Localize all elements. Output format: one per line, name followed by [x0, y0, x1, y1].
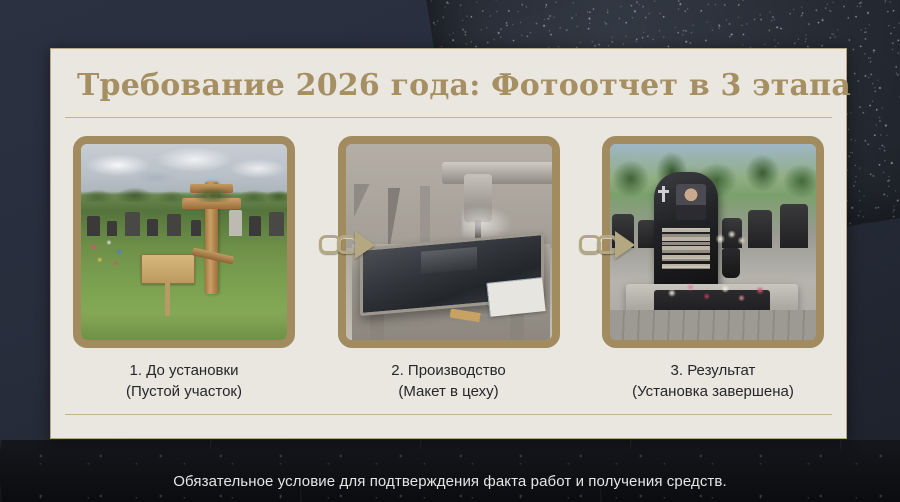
background-footer-band	[0, 440, 900, 502]
grave-flowers	[85, 236, 131, 272]
step-3: 3. Результат (Установка завершена)	[602, 136, 824, 404]
step-2-caption: 2. Производство (Макет в цеху)	[391, 360, 505, 404]
slide-title: Требование 2026 года: Фотоотчет в 3 этап…	[51, 49, 846, 103]
flower-vase	[722, 248, 740, 278]
step-2-caption-sub: (Макет в цеху)	[391, 381, 505, 403]
step-1-caption-sub: (Пустой участок)	[126, 381, 242, 403]
planted-flowers	[658, 272, 774, 314]
wooden-cross-icon	[205, 182, 218, 294]
bottom-divider	[65, 414, 832, 415]
photo-frame-2[interactable]	[338, 136, 560, 348]
step-1: 1. До установки (Пустой участок)	[73, 136, 295, 404]
paved-path	[610, 310, 816, 340]
step-3-caption: 3. Результат (Установка завершена)	[632, 360, 794, 404]
step-1-caption-main: 1. До установки	[130, 362, 239, 379]
portrait-engraving	[676, 184, 706, 220]
step-2: 2. Производство (Макет в цеху)	[338, 136, 560, 404]
step-2-caption-main: 2. Производство	[391, 362, 505, 379]
blueprint-drawing	[486, 277, 545, 317]
engraved-cross-icon	[662, 186, 665, 202]
photo-before-installation	[81, 144, 287, 340]
photo-result	[610, 144, 816, 340]
grave-marker-sign	[141, 254, 195, 284]
stacked-slabs	[354, 184, 450, 250]
photo-frame-3[interactable]	[602, 136, 824, 348]
step-3-caption-main: 3. Результат	[671, 362, 756, 379]
step-3-caption-sub: (Установка завершена)	[632, 381, 794, 403]
step-1-caption: 1. До установки (Пустой участок)	[126, 360, 242, 404]
main-monument	[654, 172, 718, 288]
chain-link-icon	[579, 235, 601, 254]
content-card: Требование 2026 года: Фотоотчет в 3 этап…	[50, 48, 847, 439]
steps-row: 1. До установки (Пустой участок)	[51, 118, 846, 404]
photo-frame-1[interactable]	[73, 136, 295, 348]
slide-stage: Требование 2026 года: Фотоотчет в 3 этап…	[0, 0, 900, 502]
photo-production	[346, 144, 552, 340]
cnc-gantry	[442, 162, 552, 184]
footer-note: Обязательное условие для подтверждения ф…	[0, 473, 900, 490]
engraved-inscription	[662, 228, 710, 272]
